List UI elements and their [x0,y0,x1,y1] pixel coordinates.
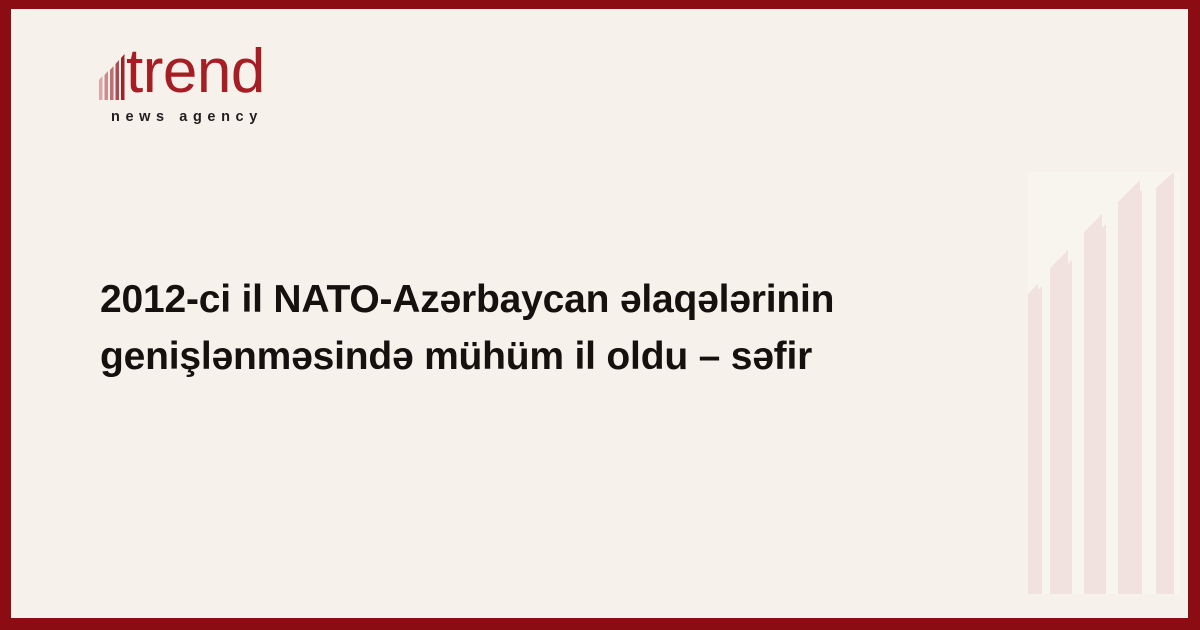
ascending-bars-watermark [1012,172,1180,594]
logo-wordmark-text: trend [126,41,265,103]
trend-logo[interactable]: trend news agency [99,47,289,133]
watermark-panel [1028,172,1180,594]
ascending-bars-watermark-icon [1012,172,1180,594]
logo-wordmark-row: trend [99,47,289,105]
share-card: trend news agency 2012-ci il NATO-Azərba… [0,0,1200,630]
card-canvas: trend news agency 2012-ci il NATO-Azərba… [11,9,1188,618]
logo-tagline: news agency [111,109,263,125]
page-title: 2012-ci il NATO-Azərbaycan əlaqələrinin … [100,271,890,386]
